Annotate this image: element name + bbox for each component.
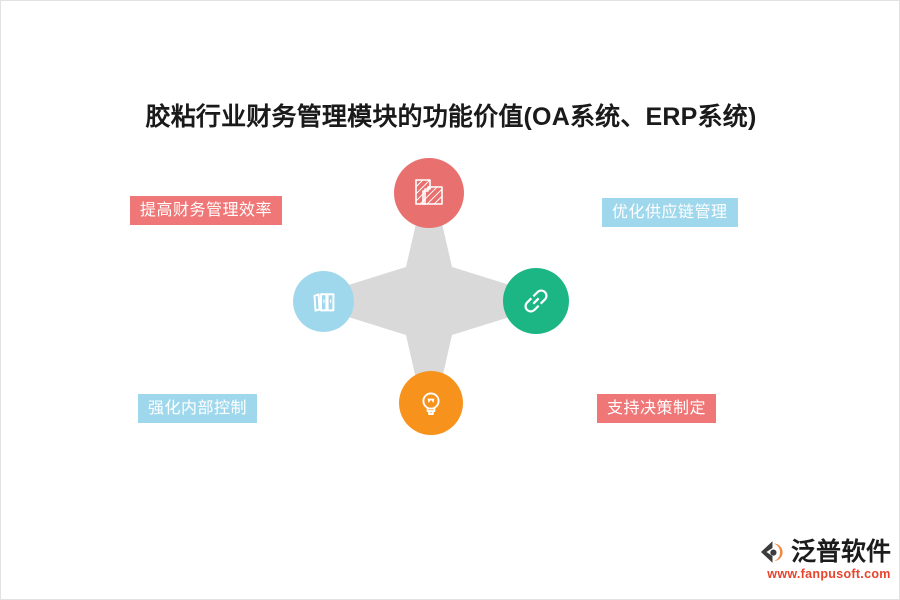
label-efficiency: 提高财务管理效率 [130, 196, 282, 225]
fanpu-logo-mark-icon [758, 537, 788, 567]
label-supply-chain: 优化供应链管理 [602, 198, 738, 227]
layers-squares-icon [412, 176, 446, 210]
page-title: 胶粘行业财务管理模块的功能价值(OA系统、ERP系统) [1, 97, 900, 133]
node-left-internal-control[interactable] [293, 271, 354, 332]
label-decision: 支持决策制定 [597, 394, 716, 423]
chain-link-icon [520, 285, 552, 317]
logo-row: 泛普软件 [758, 535, 894, 568]
logo-url-text: www.fanpusoft.com [758, 567, 894, 581]
node-bottom-decision[interactable] [399, 371, 463, 435]
brand-logo: 泛普软件 www.fanpusoft.com [758, 535, 894, 587]
books-shelf-icon [310, 288, 338, 316]
node-right-supply-chain[interactable] [503, 268, 569, 334]
slide-canvas: 胶粘行业财务管理模块的功能价值(OA系统、ERP系统) [0, 0, 900, 600]
logo-brand-text: 泛普软件 [791, 537, 891, 567]
node-top-efficiency[interactable] [394, 158, 464, 228]
lightbulb-icon [416, 388, 446, 418]
label-internal-control: 强化内部控制 [138, 394, 257, 423]
